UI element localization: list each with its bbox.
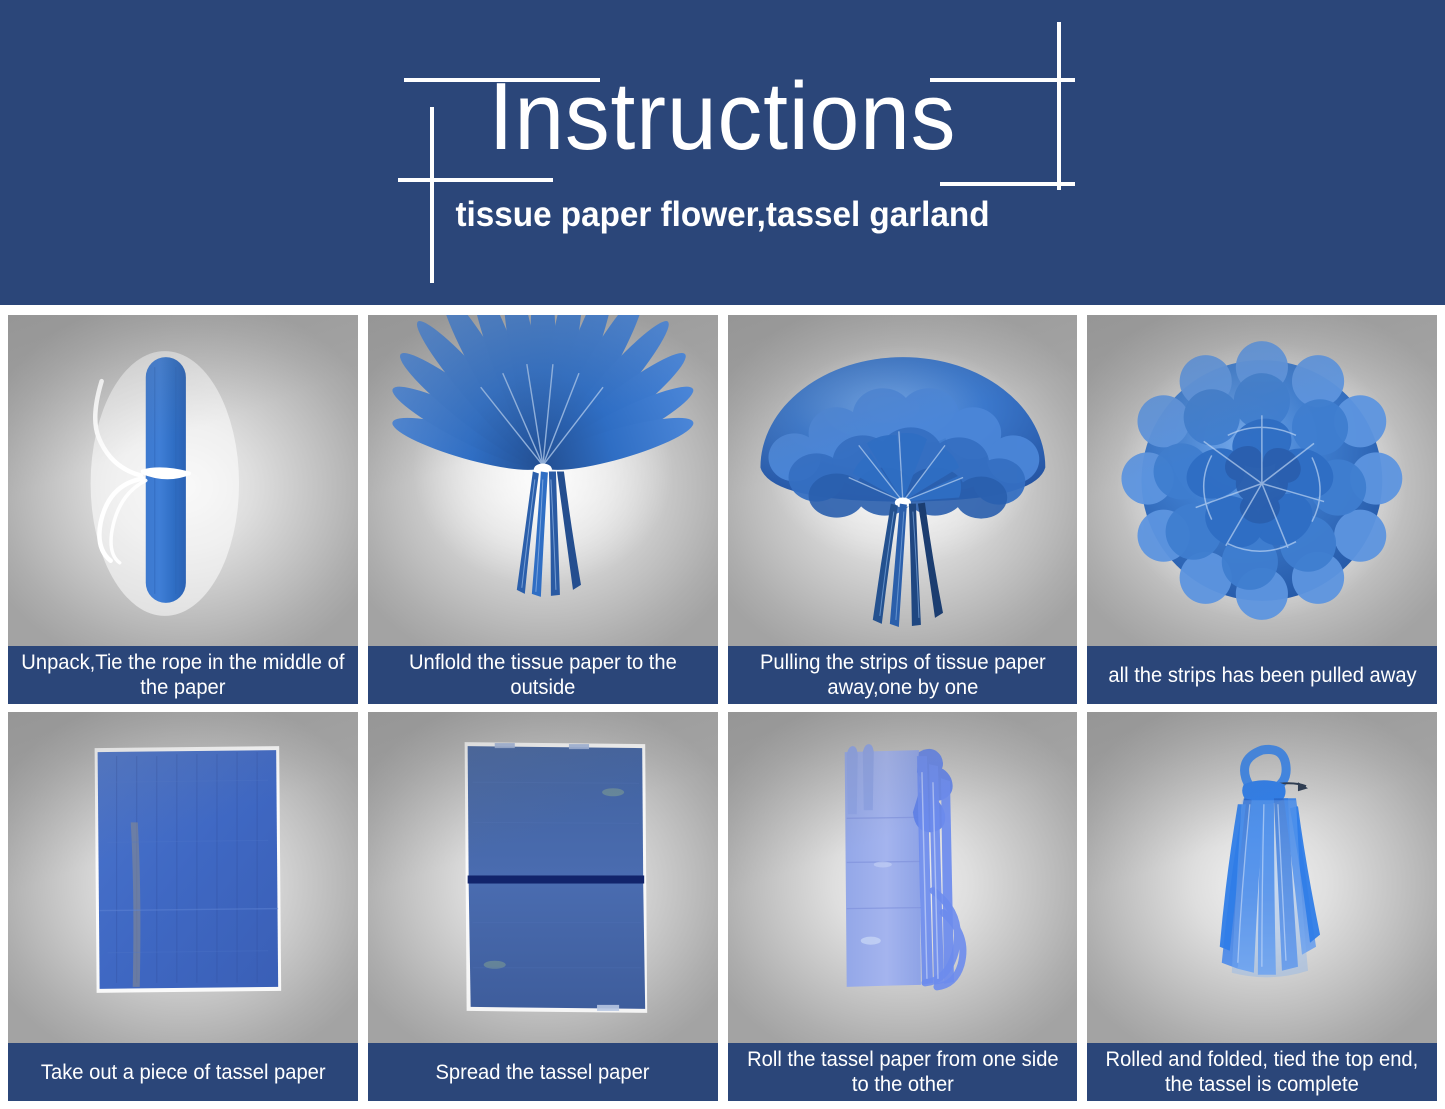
page-header: Instructions tissue paper flower,tassel …: [0, 0, 1445, 305]
step-caption-6: Spread the tassel paper: [368, 1043, 718, 1101]
decor-line-left-horizontal: [398, 178, 553, 182]
step-photo-5: [8, 712, 358, 1043]
step-photo-2: [368, 315, 718, 646]
step-cell-1: Unpack,Tie the rope in the middle of the…: [8, 315, 358, 704]
step-cell-8: Rolled and folded, tied the top end, the…: [1087, 712, 1437, 1101]
step-cell-7: Roll the tassel paper from one side to t…: [728, 712, 1078, 1101]
step-photo-1: [8, 315, 358, 646]
step-photo-6: [368, 712, 718, 1043]
step-caption-2: Unflold the tissue paper to the outside: [368, 646, 718, 704]
step-caption-8: Rolled and folded, tied the top end, the…: [1087, 1043, 1437, 1101]
step-caption-3: Pulling the strips of tissue paper away,…: [728, 646, 1078, 704]
rolled-tassel-paper-art: [728, 712, 1078, 1043]
step-caption-5: Take out a piece of tassel paper: [8, 1043, 358, 1101]
step-cell-3: Pulling the strips of tissue paper away,…: [728, 315, 1078, 704]
step-photo-3: [728, 315, 1078, 646]
step-photo-7: [728, 712, 1078, 1043]
step-photo-4: [1087, 315, 1437, 646]
fan-of-petals-art: [368, 315, 718, 646]
step-photo-8: [1087, 712, 1437, 1043]
step-caption-4: all the strips has been pulled away: [1087, 646, 1437, 704]
half-pompom-dome-art: [728, 315, 1078, 646]
page-title: Instructions: [51, 62, 1395, 172]
decor-line-mid-right: [940, 182, 1075, 186]
steps-grid: Unpack,Tie the rope in the middle of the…: [8, 315, 1437, 1101]
folded-strip-with-rope-art: [8, 315, 358, 646]
step-cell-6: Spread the tassel paper: [368, 712, 718, 1101]
step-cell-5: Take out a piece of tassel paper: [8, 712, 358, 1101]
step-cell-4: all the strips has been pulled away: [1087, 315, 1437, 704]
page-subtitle: tissue paper flower,tassel garland: [36, 192, 1409, 238]
flat-tassel-sheet-art: [8, 712, 358, 1043]
step-cell-2: Unflold the tissue paper to the outside: [368, 315, 718, 704]
spread-sheet-with-crease-art: [368, 712, 718, 1043]
finished-hanging-tassel-art: [1087, 712, 1437, 1043]
step-caption-7: Roll the tassel paper from one side to t…: [728, 1043, 1078, 1101]
step-caption-1: Unpack,Tie the rope in the middle of the…: [8, 646, 358, 704]
instructions-page: Instructions tissue paper flower,tassel …: [0, 0, 1445, 1109]
full-pompom-ball-art: [1087, 315, 1437, 646]
